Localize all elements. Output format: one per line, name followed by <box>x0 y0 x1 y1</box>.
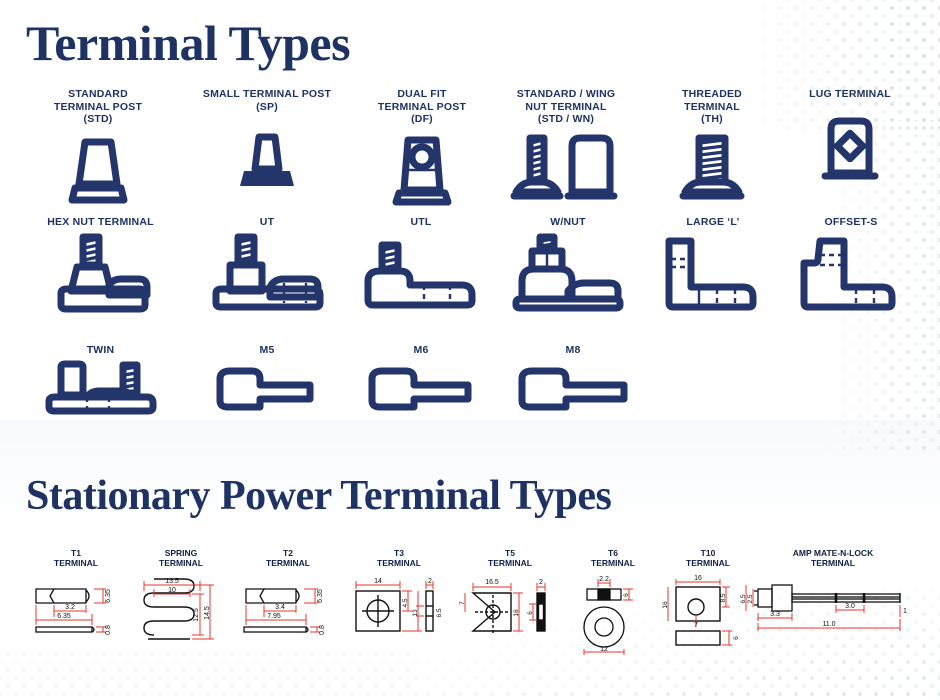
dim-13-5: 13.5 <box>165 578 179 585</box>
terminal-row-3: TWIN M5 <box>0 344 940 424</box>
terminal-label: LARGE ‘L’ <box>648 216 778 229</box>
drawing-label: SPRING TERMINAL <box>130 548 232 568</box>
terminal-item-offset-s: OFFSET-S <box>786 216 916 313</box>
twin-terminal-icon <box>18 361 183 417</box>
m5-terminal-icon <box>192 367 342 417</box>
dual-fit-terminal-post-icon <box>352 130 492 208</box>
dim-7: 7 <box>459 601 466 605</box>
drawing-label: T3 TERMINAL <box>344 548 454 568</box>
terminal-item-m8: M8 <box>498 344 648 417</box>
dim-6-35-length: 6.35 <box>57 613 71 620</box>
t3-terminal-drawing-icon: 14 4.5 13 2 6.5 <box>344 573 454 649</box>
dim-16-height: 16 <box>662 601 669 609</box>
threaded-terminal-icon <box>650 130 774 204</box>
small-terminal-post-icon <box>182 129 352 193</box>
t6-terminal-drawing-icon: 2.2 6 12 <box>563 573 663 655</box>
terminal-item-sp: SMALL TERMINAL POST (SP) <box>182 88 352 193</box>
stationary-drawing-row: T1 TERMINAL <box>0 548 940 658</box>
dim-6-5: 6.5 <box>436 608 443 617</box>
dim-3-2: 3.2 <box>65 604 75 611</box>
drawing-item-t1: T1 TERMINAL <box>22 548 130 649</box>
terminal-item-df: DUAL FIT TERMINAL POST (DF) <box>352 88 492 208</box>
dim-6: 6 <box>527 611 534 615</box>
drawing-item-t3: T3 TERMINAL <box>344 548 454 649</box>
terminal-label: M8 <box>498 344 648 357</box>
terminal-item-th: THREADED TERMINAL (TH) <box>650 88 774 204</box>
dim-2-5: 2.5 <box>747 594 754 603</box>
utl-terminal-icon <box>346 243 496 309</box>
terminal-item-w-nut: W/NUT <box>498 216 638 313</box>
drawing-label: T2 TERMINAL <box>234 548 342 568</box>
dim-11-0: 11.0 <box>822 621 835 628</box>
dim-0-8: 0.8 <box>319 625 326 635</box>
terminal-label: UTL <box>346 216 496 229</box>
offset-s-terminal-icon <box>786 237 916 313</box>
dim-2: 2 <box>539 579 543 586</box>
dim-6-5: 6.5 <box>740 594 747 603</box>
dim-7-95: 7.95 <box>267 613 281 620</box>
spring-terminal-drawing-icon: 13.5 10 12.5 14.5 <box>130 573 232 651</box>
terminal-label: M6 <box>346 344 496 357</box>
terminal-label: DUAL FIT TERMINAL POST (DF) <box>352 88 492 126</box>
terminal-item-ut: UT <box>192 216 342 313</box>
dim-1: 1 <box>903 608 907 615</box>
terminal-item-m5: M5 <box>192 344 342 417</box>
terminal-item-large-l: LARGE ‘L’ <box>648 216 778 313</box>
terminal-item-twin: TWIN <box>18 344 183 417</box>
terminal-label: UT <box>192 216 342 229</box>
terminal-label: W/NUT <box>498 216 638 229</box>
t2-terminal-drawing-icon: 3.4 7.95 6.35 0.8 <box>234 573 342 649</box>
terminal-row-2: HEX NUT TERMINAL UT <box>0 216 940 331</box>
dim-6: 6 <box>733 636 740 640</box>
t1-terminal-drawing-icon: 3.2 6.35 6.35 0.8 <box>22 573 130 649</box>
terminal-label: M5 <box>192 344 342 357</box>
dim-16-5: 16.5 <box>485 579 499 586</box>
dim-6-35-height: 6.35 <box>105 589 112 603</box>
standard-terminal-post-icon <box>18 130 178 208</box>
m6-terminal-icon <box>346 367 496 417</box>
m8-terminal-icon <box>498 367 648 417</box>
dim-3-0: 3.0 <box>845 603 855 610</box>
drawing-label: T1 TERMINAL <box>22 548 130 568</box>
terminal-label: SMALL TERMINAL POST (SP) <box>182 88 352 113</box>
terminal-row-1: STANDARD TERMINAL POST (STD) SMALL TERMI… <box>0 88 940 198</box>
dim-8-5: 8.5 <box>720 593 727 602</box>
terminal-label: STANDARD / WING NUT TERMINAL (STD / WN) <box>488 88 644 126</box>
dim-4-5: 4.5 <box>402 598 409 607</box>
terminal-label: THREADED TERMINAL (TH) <box>650 88 774 126</box>
amp-mate-n-lock-drawing-icon: 6.5 2.5 3.3 3.0 1 11.0 <box>738 573 928 635</box>
dim-14: 14 <box>374 578 382 585</box>
terminal-label: HEX NUT TERMINAL <box>18 216 183 229</box>
dim-2-2: 2.2 <box>599 576 609 583</box>
terminal-label: OFFSET-S <box>786 216 916 229</box>
terminal-label: LUG TERMINAL <box>780 88 920 101</box>
drawing-label: AMP MATE-N-LOCK TERMINAL <box>738 548 928 568</box>
lug-terminal-icon <box>780 115 920 181</box>
drawing-item-spring: SPRING TERMINAL <box>130 548 232 651</box>
dim-6-35: 6.35 <box>317 589 324 603</box>
section-title-terminal-types: Terminal Types <box>26 14 350 72</box>
terminal-item-hex-nut: HEX NUT TERMINAL <box>18 216 183 311</box>
t5-terminal-drawing-icon: 16.5 16 7 2 6 <box>455 573 565 649</box>
dim-16: 16 <box>513 609 520 617</box>
terminal-item-std: STANDARD TERMINAL POST (STD) <box>18 88 178 208</box>
dim-0-8: 0.8 <box>105 625 112 635</box>
section-title-stationary-power: Stationary Power Terminal Types <box>26 472 611 520</box>
terminal-item-lug: LUG TERMINAL <box>780 88 920 181</box>
terminal-item-std-wn: STANDARD / WING NUT TERMINAL (STD / WN) <box>488 88 644 206</box>
dim-7: 7 <box>694 622 698 629</box>
infographic-page: Terminal Types STANDARD TERMINAL POST (S… <box>0 0 940 700</box>
dim-13: 13 <box>412 609 419 617</box>
drawing-label: T5 TERMINAL <box>455 548 565 568</box>
w-nut-terminal-icon <box>498 233 638 313</box>
dim-3-4: 3.4 <box>275 604 285 611</box>
terminal-item-utl: UTL <box>346 216 496 309</box>
ut-terminal-icon <box>192 233 342 313</box>
drawing-item-amp-mate-n-lock: AMP MATE-N-LOCK TERMINAL <box>738 548 928 635</box>
terminal-item-m6: M6 <box>346 344 496 417</box>
dim-16-width: 16 <box>694 575 702 582</box>
standard-wing-nut-terminal-icon <box>488 130 644 206</box>
dim-12: 12 <box>600 646 608 653</box>
dim-2: 2 <box>428 578 432 585</box>
dim-14-5: 14.5 <box>204 606 211 620</box>
dim-12-5: 12.5 <box>193 608 200 622</box>
large-l-terminal-icon <box>648 237 778 313</box>
dim-10: 10 <box>168 587 176 594</box>
terminal-label: STANDARD TERMINAL POST (STD) <box>18 88 178 126</box>
dim-3-3: 3.3 <box>770 611 780 618</box>
drawing-item-t2: T2 TERMINAL <box>234 548 342 649</box>
dim-6: 6 <box>623 593 630 597</box>
hex-nut-terminal-icon <box>18 233 183 311</box>
drawing-item-t6: T6 TERMINAL <box>563 548 663 655</box>
drawing-label: T6 TERMINAL <box>563 548 663 568</box>
terminal-label: TWIN <box>18 344 183 357</box>
drawing-item-t5: T5 TERMINAL <box>455 548 565 649</box>
